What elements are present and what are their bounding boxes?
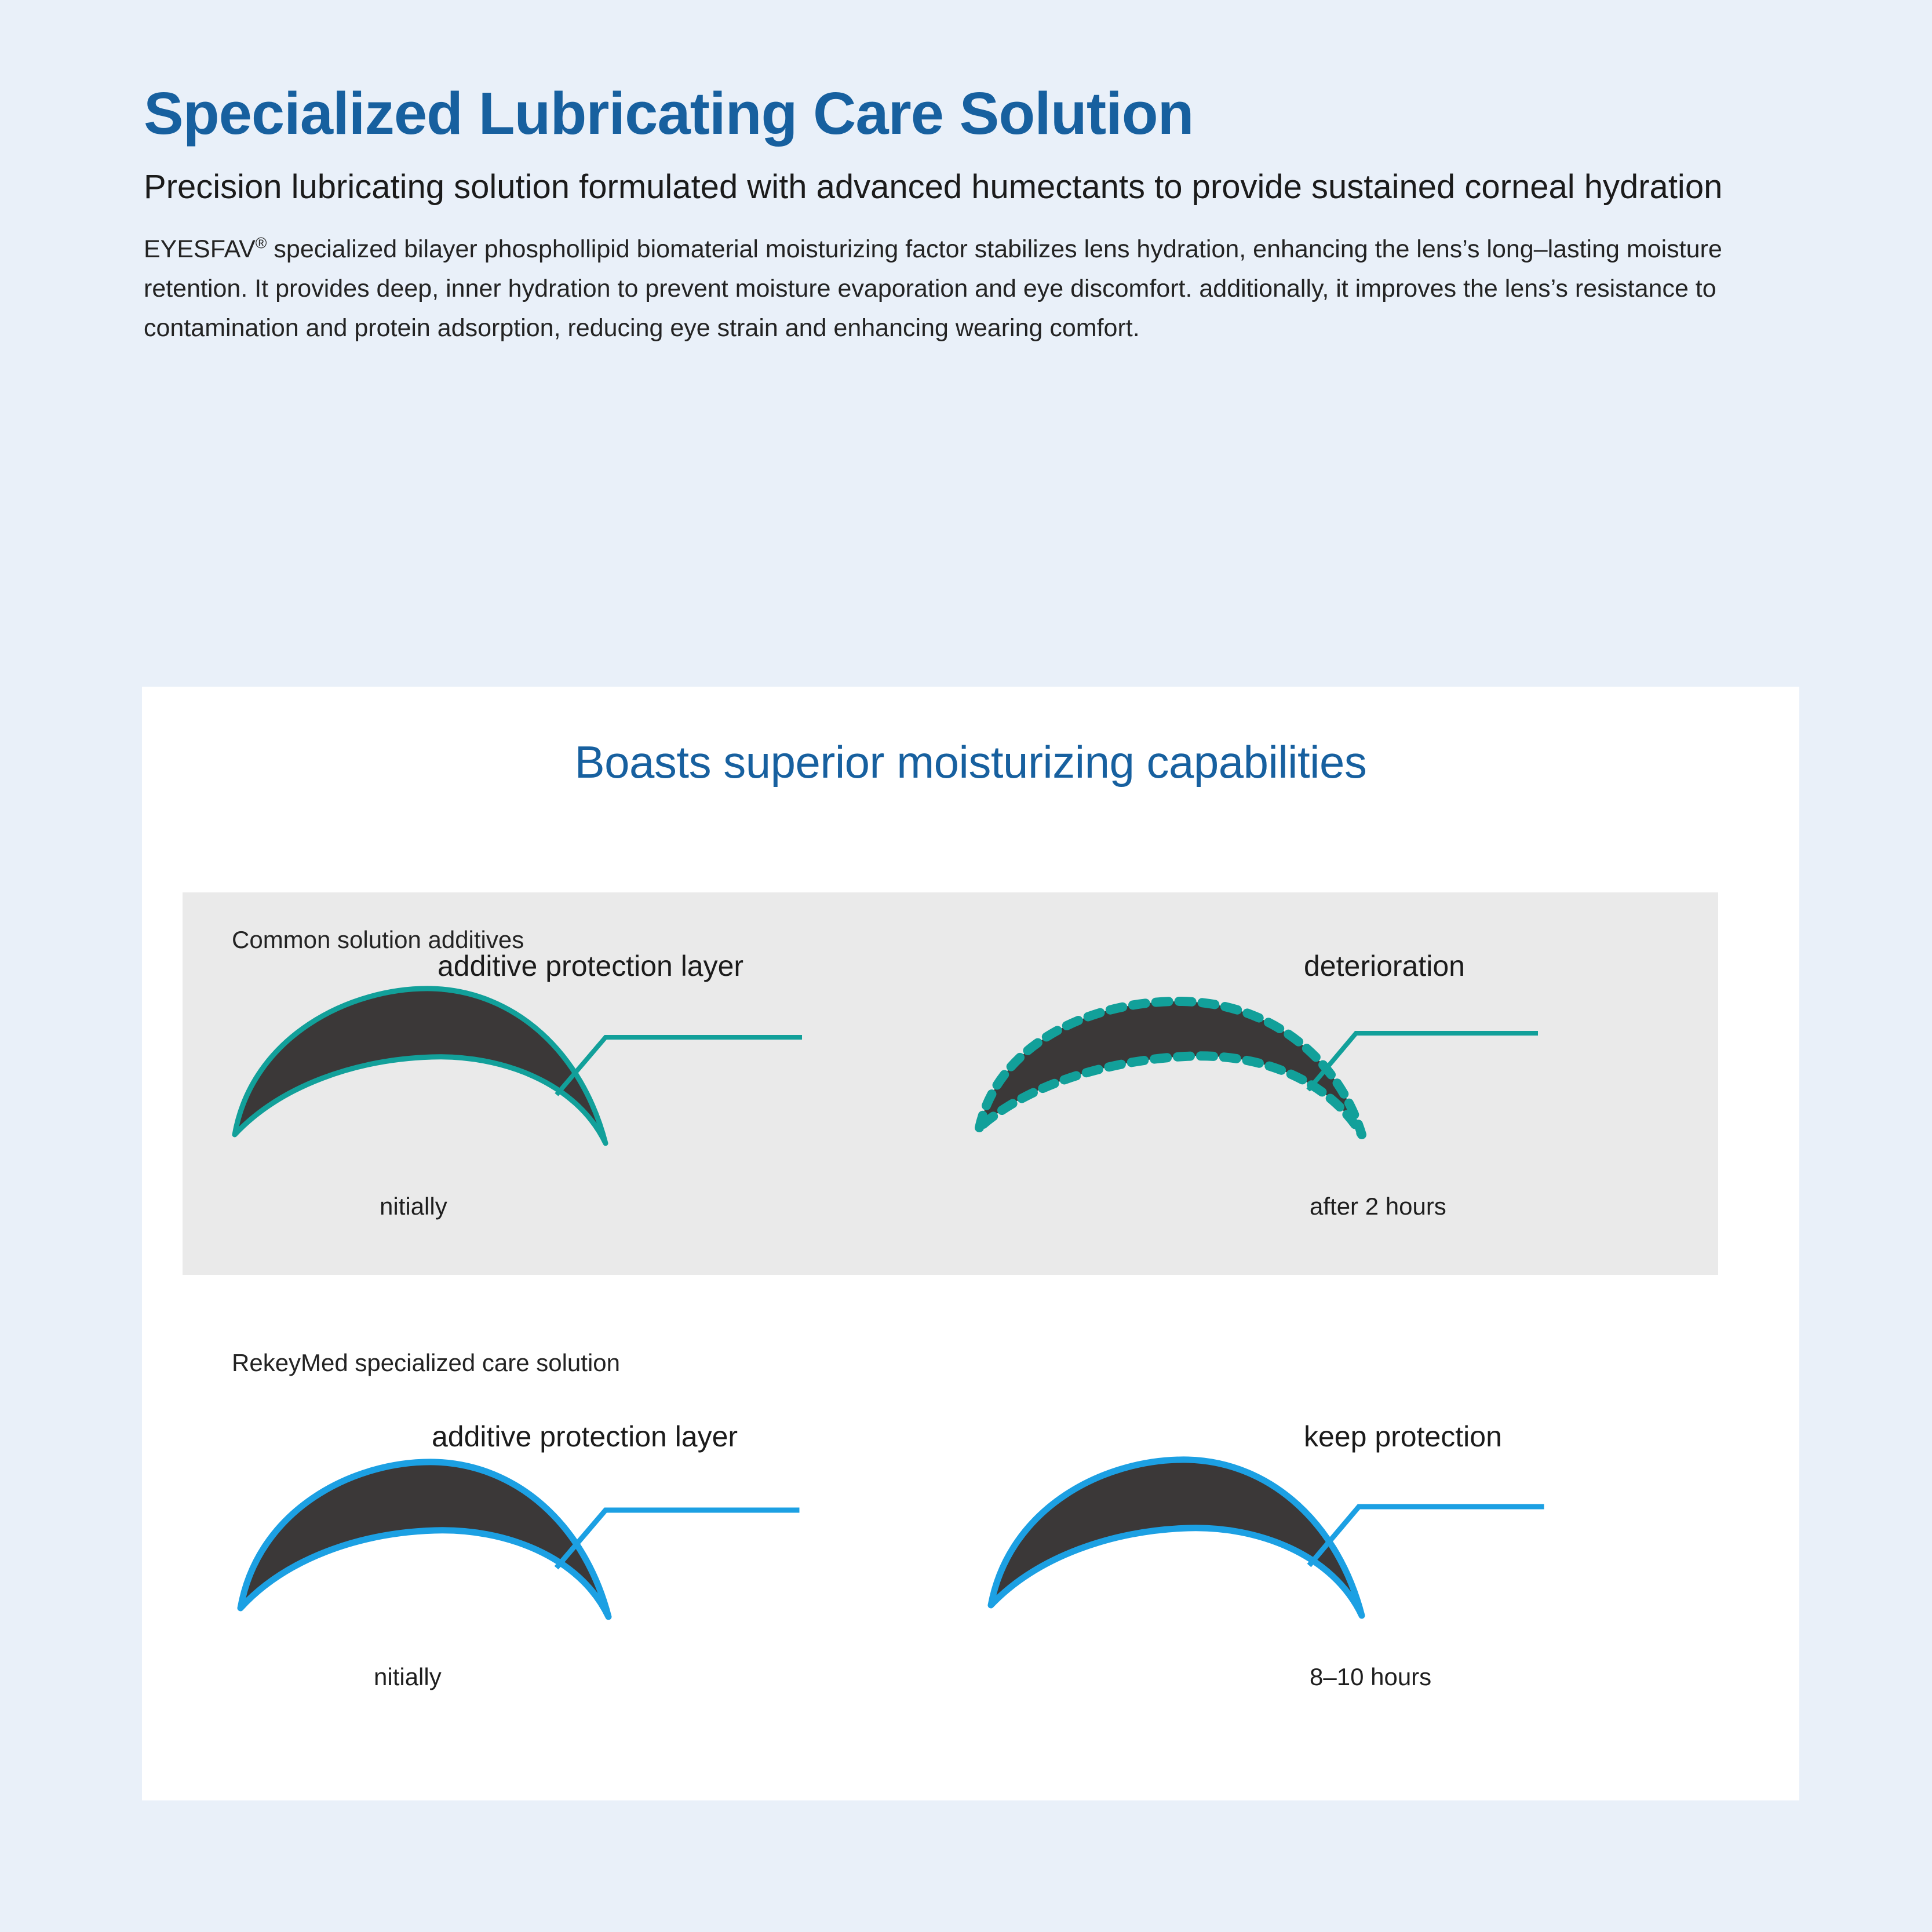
comparison-card: Boasts superior moisturizing capabilitie… <box>142 687 1799 1800</box>
figure-caption-initially: nitially <box>374 1663 442 1691</box>
panel-common-solution-additives: Common solution additives additive prote… <box>183 892 1718 1275</box>
figure-rekeymed-initially: additive protection layer nitially <box>200 1414 918 1721</box>
callout-label-additive-protection-layer: additive protection layer <box>438 949 743 983</box>
leader-line <box>558 1510 797 1566</box>
page-title: Specialized Lubricating Care Solution <box>144 81 1824 145</box>
figure-caption-initially: nitially <box>380 1193 447 1220</box>
lens-body <box>991 1460 1362 1616</box>
page-body-text: specialized bilayer phosphollipid biomat… <box>144 235 1722 342</box>
leader-line <box>1310 1033 1536 1088</box>
callout-label-deterioration: deterioration <box>1304 949 1465 983</box>
leader-line <box>1311 1507 1541 1563</box>
leader-line <box>558 1037 800 1093</box>
lens-body <box>240 1462 608 1617</box>
panel-rekeymed-care-solution: RekeyMed specialized care solution addit… <box>183 1315 1718 1721</box>
lens-body <box>235 989 606 1143</box>
page-subtitle: Precision lubricating solution formulate… <box>144 165 1818 209</box>
callout-label-keep-protection: keep protection <box>1304 1420 1502 1453</box>
card-title: Boasts superior moisturizing capabilitie… <box>142 736 1799 789</box>
figure-caption-after-2-hours: after 2 hours <box>1310 1193 1446 1220</box>
registered-trademark-icon: ® <box>256 234 267 251</box>
figure-rekeymed-8-10-hours: keep protection 8–10 hours <box>956 1414 1675 1721</box>
lens-body-deteriorated <box>979 1001 1362 1135</box>
figure-common-after-2-hours: deterioration after 2 hours <box>956 943 1675 1251</box>
figure-caption-8-10-hours: 8–10 hours <box>1310 1663 1431 1691</box>
brand-name: EYESFAV <box>144 235 256 263</box>
header-block: Specialized Lubricating Care Solution Pr… <box>144 81 1824 348</box>
callout-label-additive-protection-layer: additive protection layer <box>432 1420 738 1453</box>
figure-common-initially: additive protection layer nitially <box>200 943 918 1251</box>
panel-label-rekeymed: RekeyMed specialized care solution <box>232 1349 620 1377</box>
page-body-paragraph: EYESFAV® specialized bilayer phosphollip… <box>144 230 1807 348</box>
